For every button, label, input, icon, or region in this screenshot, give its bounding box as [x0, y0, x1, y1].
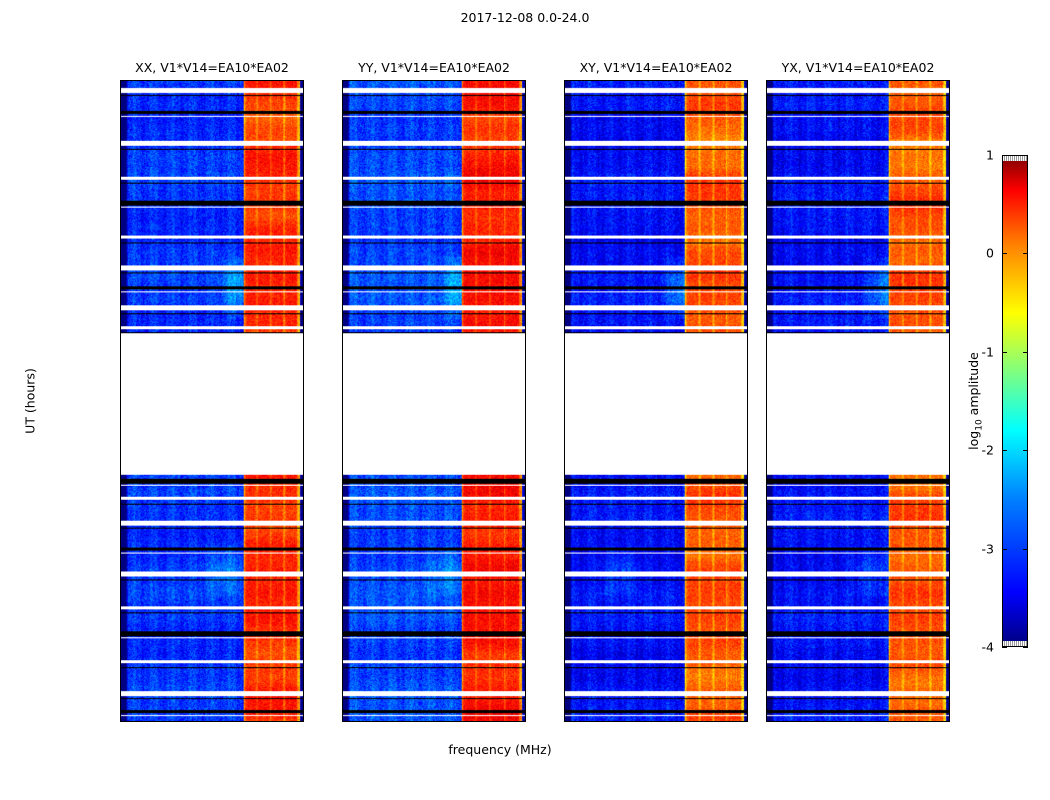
y-tick-mark	[564, 297, 565, 298]
y-tick-mark	[564, 581, 565, 582]
colorbar-tick-mark	[1002, 155, 1007, 156]
colorbar-tick-label: 0	[986, 246, 994, 261]
x-tick-mark	[898, 80, 899, 81]
y-tick-mark	[766, 155, 767, 156]
y-tick-mark	[949, 155, 950, 156]
colorbar-tick-label: -3	[982, 541, 994, 556]
y-tick-mark	[525, 581, 526, 582]
x-tick-mark	[571, 721, 572, 722]
colorbar-under-extend	[1003, 641, 1027, 646]
x-tick-mark	[856, 721, 857, 722]
x-tick-mark	[210, 80, 211, 81]
y-tick-mark	[303, 581, 304, 582]
x-tick-mark	[571, 80, 572, 81]
x-tick-mark	[474, 80, 475, 81]
colorbar-tick-mark	[1023, 352, 1028, 353]
y-tick-mark	[303, 297, 304, 298]
x-tick-mark	[294, 721, 295, 722]
panel-xx: XX, V1*V14=EA10*EA0205101520320335350365…	[120, 80, 304, 722]
colorbar-tick-label: 1	[986, 148, 994, 163]
dynamic-spectrum-image	[343, 81, 525, 721]
colorbar-tick-mark	[1002, 450, 1007, 451]
y-tick-mark	[766, 439, 767, 440]
x-tick-mark	[432, 80, 433, 81]
y-tick-mark	[120, 297, 121, 298]
plot-area[interactable]: 05101520320335350365380	[342, 80, 526, 722]
y-tick-mark	[564, 155, 565, 156]
dynamic-spectrum-image	[121, 81, 303, 721]
panel-yx: YX, V1*V14=EA10*EA0205101520320335350365…	[766, 80, 950, 722]
colorbar-label-sub: 10	[974, 419, 984, 430]
y-tick-mark	[120, 439, 121, 440]
y-tick-mark	[949, 581, 950, 582]
figure-canvas: 2017-12-08 0.0-24.0 UT (hours) frequency…	[0, 0, 1050, 800]
colorbar-tick-mark	[1002, 549, 1007, 550]
y-axis-label: UT (hours)	[23, 368, 38, 434]
y-tick-mark	[766, 297, 767, 298]
x-tick-mark	[654, 80, 655, 81]
panel-title: YX, V1*V14=EA10*EA02	[782, 60, 935, 80]
x-tick-mark	[474, 721, 475, 722]
colorbar-tick-mark	[1002, 253, 1007, 254]
y-tick-mark	[564, 439, 565, 440]
x-tick-mark	[168, 721, 169, 722]
y-tick-mark	[525, 297, 526, 298]
x-tick-mark	[856, 80, 857, 81]
figure-title: 2017-12-08 0.0-24.0	[0, 10, 1050, 25]
x-tick-mark	[252, 721, 253, 722]
x-tick-mark	[612, 721, 613, 722]
colorbar-tick-mark	[1023, 549, 1028, 550]
y-tick-mark	[525, 439, 526, 440]
x-tick-mark	[814, 80, 815, 81]
panel-xy: XY, V1*V14=EA10*EA0205101520320335350365…	[564, 80, 748, 722]
x-tick-mark	[349, 80, 350, 81]
colorbar-label: log10 amplitude	[966, 352, 985, 450]
x-tick-mark	[696, 721, 697, 722]
colorbar[interactable]: 10-1-2-3-4	[1002, 155, 1028, 647]
x-tick-mark	[390, 80, 391, 81]
x-tick-mark	[349, 721, 350, 722]
x-tick-mark	[612, 80, 613, 81]
panel-title: YY, V1*V14=EA10*EA02	[358, 60, 510, 80]
colorbar-label-prefix: log	[966, 431, 981, 450]
colorbar-label-suffix: amplitude	[966, 352, 981, 419]
x-tick-mark	[654, 721, 655, 722]
x-tick-mark	[390, 721, 391, 722]
x-axis-label: frequency (MHz)	[0, 742, 1000, 757]
x-tick-mark	[738, 721, 739, 722]
colorbar-tick-mark	[1002, 352, 1007, 353]
plot-area[interactable]: 05101520320335350365380	[564, 80, 748, 722]
panel-title: XX, V1*V14=EA10*EA02	[135, 60, 289, 80]
colorbar-gradient	[1002, 155, 1028, 647]
colorbar-over-extend	[1003, 156, 1027, 161]
panel-yy: YY, V1*V14=EA10*EA0205101520320335350365…	[342, 80, 526, 722]
x-tick-mark	[696, 80, 697, 81]
y-tick-mark	[120, 155, 121, 156]
y-tick-mark	[303, 155, 304, 156]
colorbar-tick-mark	[1023, 155, 1028, 156]
y-tick-mark	[747, 155, 748, 156]
dynamic-spectrum-image	[767, 81, 949, 721]
y-tick-mark	[949, 297, 950, 298]
y-tick-mark	[342, 155, 343, 156]
x-tick-mark	[940, 80, 941, 81]
panel-title: XY, V1*V14=EA10*EA02	[580, 60, 733, 80]
x-tick-mark	[168, 80, 169, 81]
y-tick-mark	[303, 439, 304, 440]
x-tick-mark	[127, 721, 128, 722]
x-tick-mark	[516, 80, 517, 81]
x-tick-mark	[252, 80, 253, 81]
y-tick-mark	[747, 581, 748, 582]
x-tick-mark	[127, 80, 128, 81]
y-tick-mark	[747, 439, 748, 440]
y-tick-mark	[949, 439, 950, 440]
colorbar-tick-mark	[1023, 450, 1028, 451]
dynamic-spectrum-image	[565, 81, 747, 721]
x-tick-mark	[773, 80, 774, 81]
y-tick-mark	[766, 581, 767, 582]
y-tick-mark	[120, 581, 121, 582]
x-tick-mark	[814, 721, 815, 722]
y-tick-mark	[342, 439, 343, 440]
colorbar-tick-label: -4	[982, 640, 994, 655]
x-tick-mark	[773, 721, 774, 722]
colorbar-tick-mark	[1023, 647, 1028, 648]
y-tick-mark	[525, 155, 526, 156]
x-tick-mark	[738, 80, 739, 81]
x-tick-mark	[516, 721, 517, 722]
colorbar-tick-mark	[1023, 253, 1028, 254]
y-tick-mark	[747, 297, 748, 298]
y-tick-mark	[342, 581, 343, 582]
x-tick-mark	[294, 80, 295, 81]
colorbar-tick-mark	[1002, 647, 1007, 648]
x-tick-mark	[898, 721, 899, 722]
x-tick-mark	[432, 721, 433, 722]
plot-area[interactable]: 05101520320335350365380	[120, 80, 304, 722]
y-tick-mark	[342, 297, 343, 298]
x-tick-mark	[940, 721, 941, 722]
plot-area[interactable]: 05101520320335350365380	[766, 80, 950, 722]
x-tick-mark	[210, 721, 211, 722]
